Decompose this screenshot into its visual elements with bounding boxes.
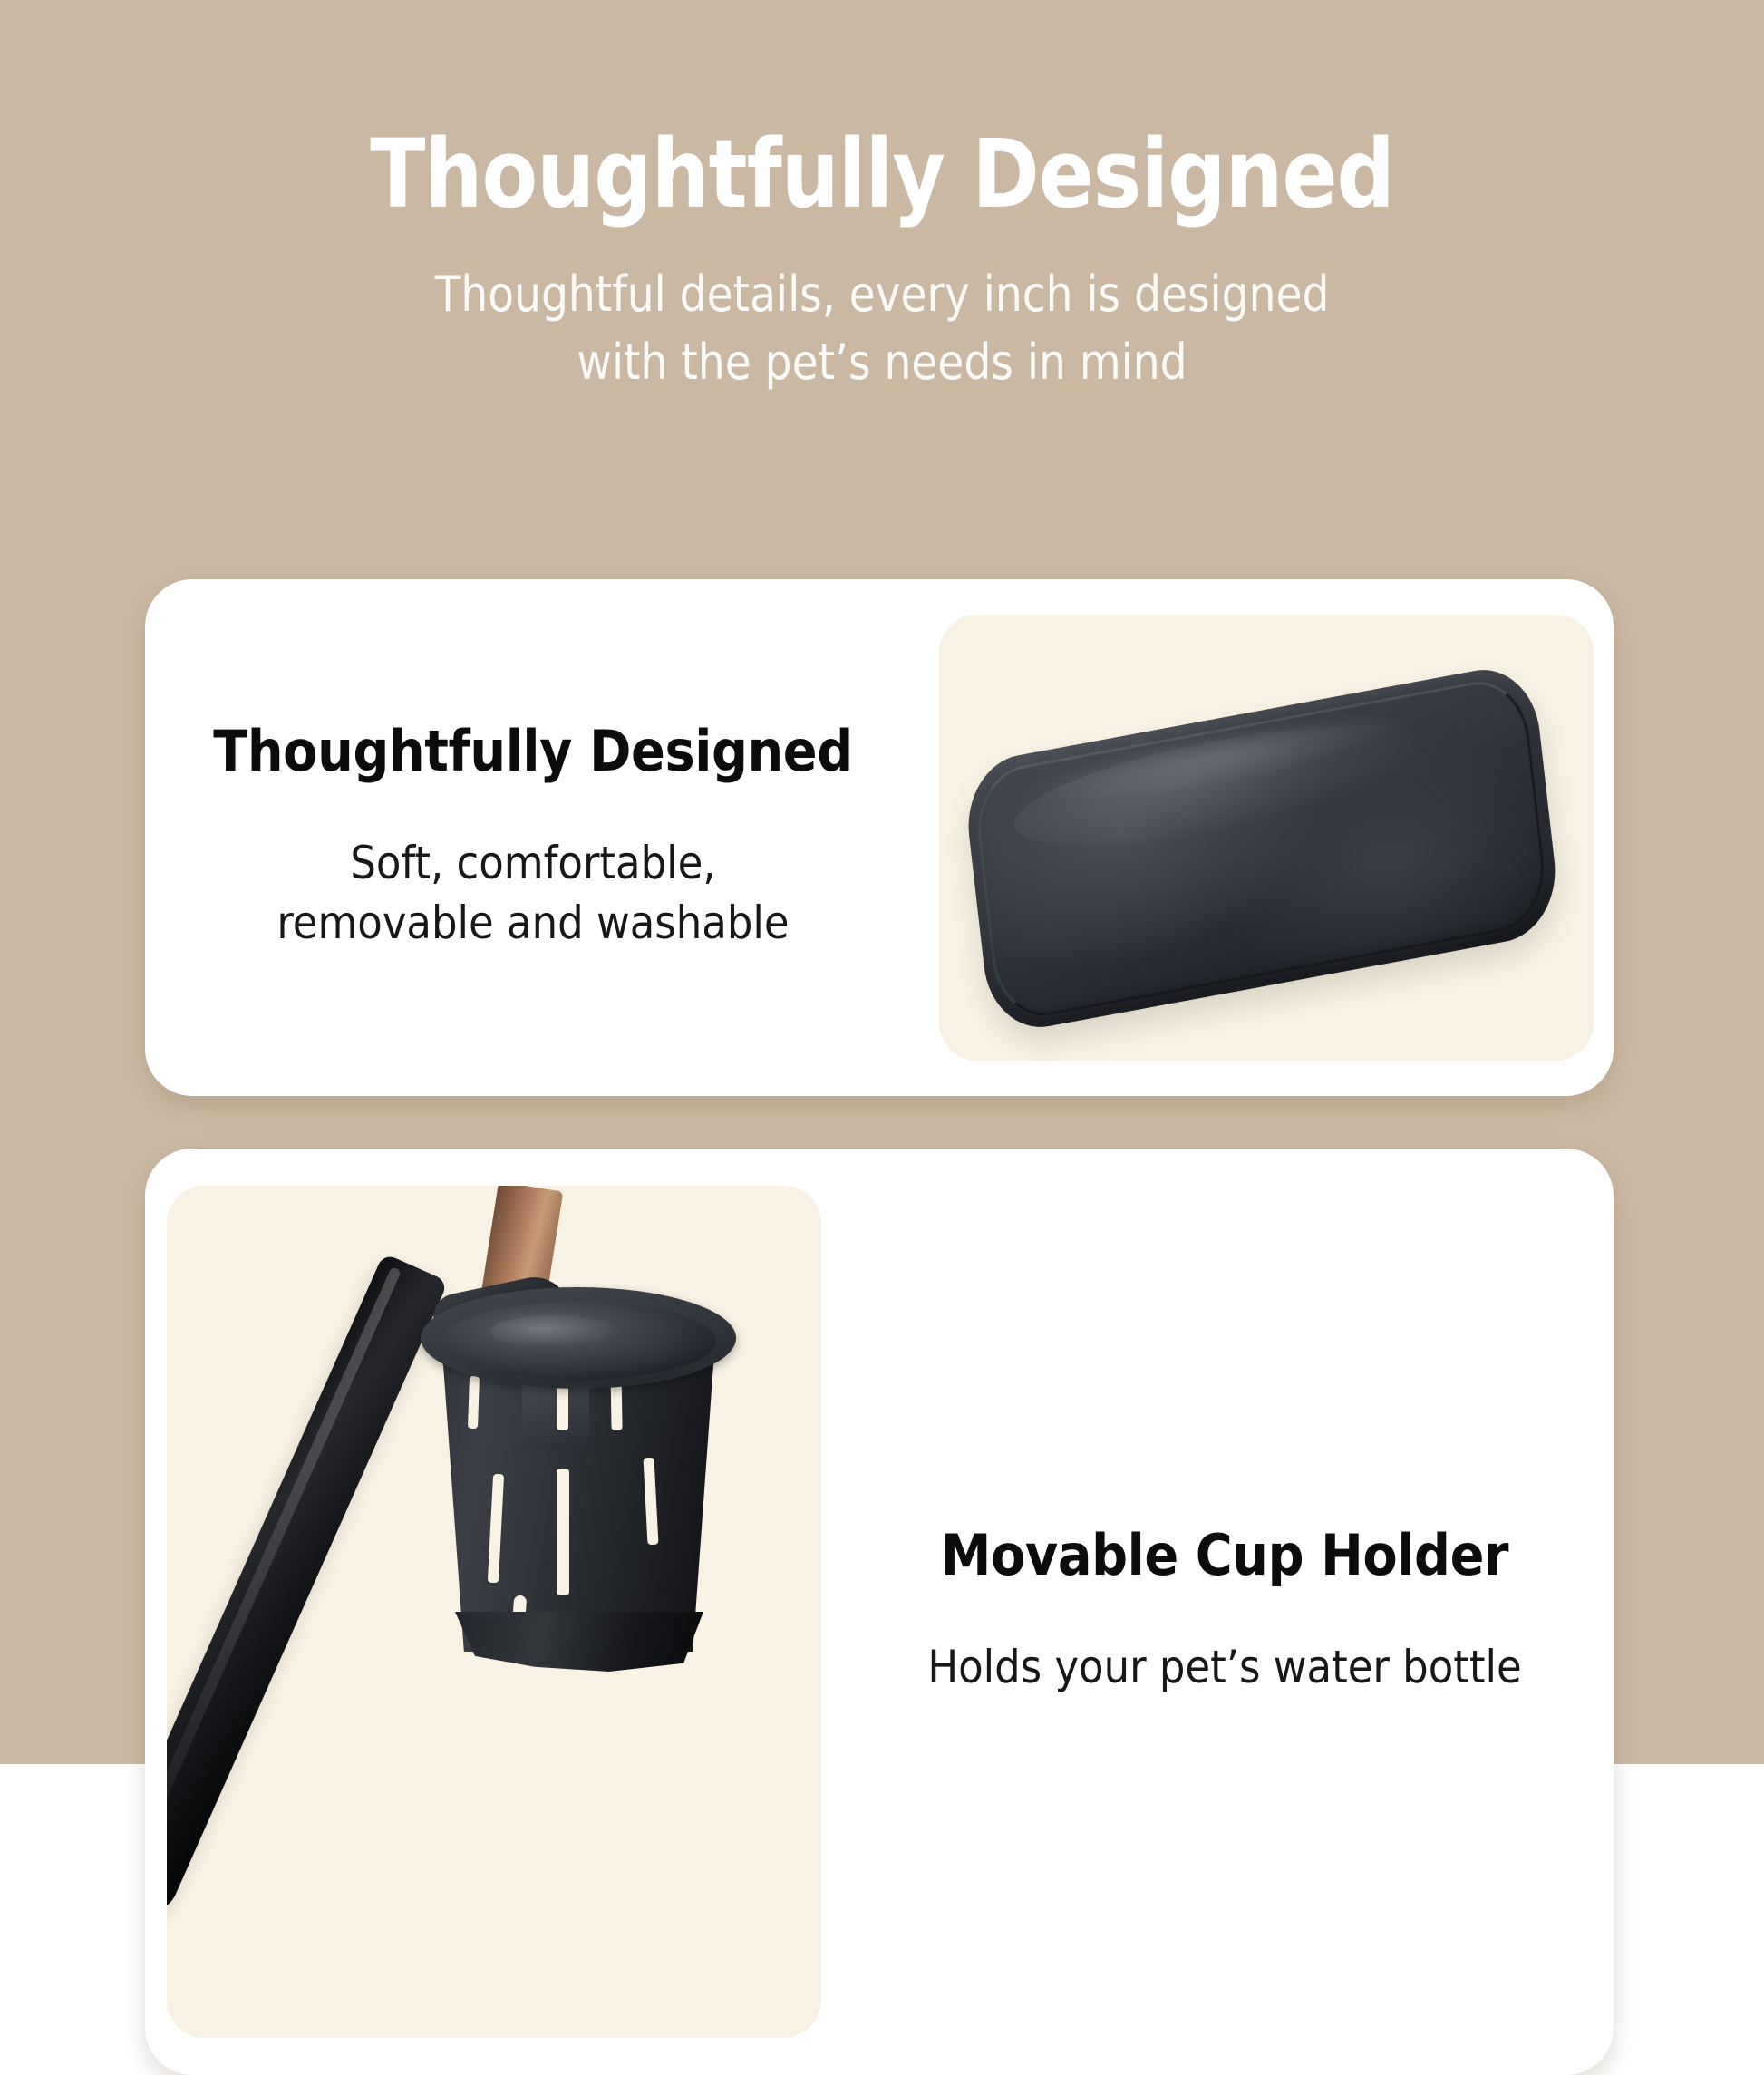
page-subtitle-line-1: Thoughtful details, every inch is design… (363, 261, 1401, 329)
feature-heading: Movable Cup Holder (868, 1526, 1581, 1586)
feature-body-line-2: removable and washable (181, 893, 885, 954)
page-title: Thoughtfully Designed (35, 0, 1729, 221)
cup-holder-slot (557, 1469, 569, 1595)
cushion-pad-shape (961, 660, 1562, 1036)
cushion-illustration (939, 615, 1594, 1061)
cup-holder-base (455, 1612, 703, 1672)
cup-holder-interior (441, 1302, 716, 1380)
cup-holder-slot (468, 1376, 480, 1429)
cup-holder-illustration (167, 1186, 821, 2038)
cushion-image-panel (939, 615, 1594, 1061)
cup-holder-image-panel (167, 1186, 821, 2038)
stroller-frame-bar (167, 1253, 449, 1919)
feature-body: Holds your pet’s water bottle (868, 1586, 1581, 1698)
page-subtitle: Thoughtful details, every inch is design… (363, 221, 1401, 396)
feature-body-line-1: Soft, comfortable, (181, 833, 885, 894)
infographic-page: Thoughtfully Designed Thoughtful details… (0, 0, 1764, 1764)
feature-card-cup-holder[interactable]: Movable Cup Holder Holds your pet’s wate… (145, 1149, 1614, 2075)
feature-card-text: Thoughtfully Designed Soft, comfortable,… (145, 722, 939, 954)
page-subtitle-line-2: with the pet’s needs in mind (363, 329, 1401, 397)
feature-body-line-1: Holds your pet’s water bottle (868, 1637, 1581, 1698)
feature-body: Soft, comfortable, removable and washabl… (181, 782, 885, 954)
feature-card-text: Movable Cup Holder Holds your pet’s wate… (821, 1526, 1614, 1697)
header: Thoughtfully Designed Thoughtful details… (0, 0, 1764, 396)
feature-heading: Thoughtfully Designed (181, 722, 885, 782)
feature-card-cushion[interactable]: Thoughtfully Designed Soft, comfortable,… (145, 579, 1614, 1096)
